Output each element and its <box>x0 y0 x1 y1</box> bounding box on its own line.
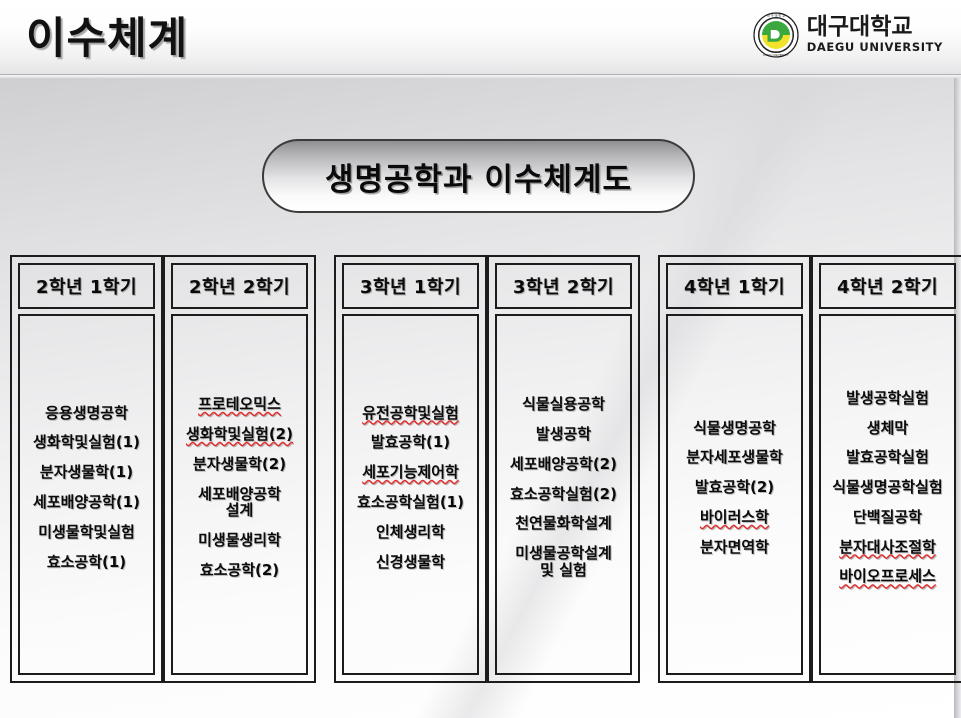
course-item[interactable]: 식물생명공학실험 <box>832 479 942 496</box>
course-item[interactable]: 효소공학실험(2) <box>510 486 617 503</box>
page-title: 이수체계 <box>26 4 188 66</box>
semester-panel[interactable]: 2학년 2학기프로테오믹스생화학및실험(2)분자생물학(2)세포배양공학 설계미… <box>163 255 316 683</box>
course-item[interactable]: 효소공학(2) <box>200 562 279 579</box>
course-item[interactable]: 분자생물학(1) <box>40 464 133 481</box>
course-item[interactable]: 세포배양공학 설계 <box>198 486 281 520</box>
course-item[interactable]: 천연물화학설계 <box>515 515 612 532</box>
semester-course-box: 발생공학실험생체막발효공학실험식물생명공학실험단백질공학분자대사조절학바이오프로… <box>819 314 956 675</box>
curriculum-heading-pill: 생명공학과 이수체계도 <box>262 139 695 213</box>
semester-label: 3학년 1학기 <box>360 273 461 299</box>
course-item[interactable]: 식물생명공학 <box>693 420 776 437</box>
semester-panel-row: 2학년 1학기응용생명공학생화학및실험(1)분자생물학(1)세포배양공학(1)미… <box>10 255 951 683</box>
semester-label: 4학년 2학기 <box>837 273 938 299</box>
semester-panel-header: 3학년 2학기 <box>495 263 632 309</box>
course-list: 프로테오믹스생화학및실험(2)분자생물학(2)세포배양공학 설계미생물생리학효소… <box>175 390 304 586</box>
slide-titlebar: 이수체계 대 구 대 학 교 DAEGU UNIVERSITY <box>0 0 961 76</box>
semester-panel[interactable]: 4학년 1학기식물생명공학분자세포생물학발효공학(2)바이러스학분자면역학 <box>658 255 811 683</box>
course-item[interactable]: 미생물학및실험 <box>38 524 135 541</box>
panel-group-3학년: 3학년 1학기유전공학및실험발효공학(1)세포기능제어학효소공학실험(1)인체생… <box>334 255 640 683</box>
course-item[interactable]: 식물실용공학 <box>522 396 605 413</box>
semester-panel[interactable]: 3학년 2학기식물실용공학발생공학세포배양공학(2)효소공학실험(2)천연물화학… <box>487 255 640 683</box>
course-item[interactable]: 분자면역학 <box>700 539 769 556</box>
semester-panel-header: 4학년 1학기 <box>666 263 803 309</box>
course-item[interactable]: 세포배양공학(1) <box>33 494 140 511</box>
panel-group-2학년: 2학년 1학기응용생명공학생화학및실험(1)분자생물학(1)세포배양공학(1)미… <box>10 255 316 683</box>
course-item[interactable]: 발생공학 <box>536 426 591 443</box>
semester-course-box: 유전공학및실험발효공학(1)세포기능제어학효소공학실험(1)인체생리학신경생물학 <box>342 314 479 675</box>
semester-panel[interactable]: 4학년 2학기발생공학실험생체막발효공학실험식물생명공학실험단백질공학분자대사조… <box>811 255 961 683</box>
semester-course-box: 프로테오믹스생화학및실험(2)분자생물학(2)세포배양공학 설계미생물생리학효소… <box>171 314 308 675</box>
course-list: 응용생명공학생화학및실험(1)분자생물학(1)세포배양공학(1)미생물학및실험효… <box>22 398 151 577</box>
course-item[interactable]: 세포배양공학(2) <box>510 456 617 473</box>
university-logo: 대 구 대 학 교 DAEGU UNIVERSITY 대구대학교 DAEGU U… <box>753 12 943 58</box>
course-item[interactable]: 응용생명공학 <box>45 405 128 422</box>
semester-panel[interactable]: 3학년 1학기유전공학및실험발효공학(1)세포기능제어학효소공학실험(1)인체생… <box>334 255 487 683</box>
panel-group-4학년: 4학년 1학기식물생명공학분자세포생물학발효공학(2)바이러스학분자면역학4학년… <box>658 255 961 683</box>
university-name-ko: 대구대학교 <box>807 16 943 39</box>
semester-course-box: 식물실용공학발생공학세포배양공학(2)효소공학실험(2)천연물화학설계미생물공학… <box>495 314 632 675</box>
course-item[interactable]: 발효공학(2) <box>695 479 774 496</box>
semester-panel-header: 2학년 1학기 <box>18 263 155 309</box>
course-item[interactable]: 바이러스학 <box>700 509 769 526</box>
course-item[interactable]: 바이오프로세스 <box>839 568 936 585</box>
semester-panel-header: 4학년 2학기 <box>819 263 956 309</box>
course-item[interactable]: 유전공학및실험 <box>362 405 459 422</box>
course-item[interactable]: 신경생물학 <box>376 554 445 571</box>
curriculum-heading-text: 생명공학과 이수체계도 <box>325 154 632 199</box>
course-item[interactable]: 미생물공학설계 및 실험 <box>515 545 612 579</box>
daegu-university-seal-icon: 대 구 대 학 교 DAEGU UNIVERSITY <box>753 12 799 58</box>
slide-root: 이수체계 대 구 대 학 교 DAEGU UNIVERSITY <box>0 0 961 718</box>
semester-label: 4학년 1학기 <box>684 273 785 299</box>
semester-label: 2학년 1학기 <box>36 273 137 299</box>
course-item[interactable]: 세포기능제어학 <box>362 464 459 481</box>
course-item[interactable]: 단백질공학 <box>853 509 922 526</box>
panel-group-gap <box>316 255 334 683</box>
course-item[interactable]: 생화학및실험(1) <box>33 434 140 451</box>
course-item[interactable]: 분자세포생물학 <box>686 449 783 466</box>
course-item[interactable]: 생체막 <box>867 420 908 437</box>
course-item[interactable]: 프로테오믹스 <box>198 396 281 413</box>
semester-panel[interactable]: 2학년 1학기응용생명공학생화학및실험(1)분자생물학(1)세포배양공학(1)미… <box>10 255 163 683</box>
course-item[interactable]: 효소공학(1) <box>47 554 126 571</box>
panel-group-gap <box>640 255 658 683</box>
semester-course-box: 응용생명공학생화학및실험(1)분자생물학(1)세포배양공학(1)미생물학및실험효… <box>18 314 155 675</box>
course-item[interactable]: 발효공학(1) <box>371 434 450 451</box>
course-item[interactable]: 발생공학실험 <box>846 390 929 407</box>
course-item[interactable]: 분자생물학(2) <box>193 456 286 473</box>
course-list: 식물실용공학발생공학세포배양공학(2)효소공학실험(2)천연물화학설계미생물공학… <box>499 390 628 586</box>
university-name-en: DAEGU UNIVERSITY <box>807 42 943 54</box>
semester-course-box: 식물생명공학분자세포생물학발효공학(2)바이러스학분자면역학 <box>666 314 803 675</box>
university-logo-text: 대구대학교 DAEGU UNIVERSITY <box>807 16 943 54</box>
semester-panel-header: 2학년 2학기 <box>171 263 308 309</box>
course-item[interactable]: 미생물생리학 <box>198 532 281 549</box>
course-item[interactable]: 발효공학실험 <box>846 449 929 466</box>
course-list: 식물생명공학분자세포생물학발효공학(2)바이러스학분자면역학 <box>670 413 799 562</box>
course-item[interactable]: 분자대사조절학 <box>839 539 936 556</box>
semester-label: 3학년 2학기 <box>513 273 614 299</box>
course-item[interactable]: 효소공학실험(1) <box>357 494 464 511</box>
svg-text:DAEGU UNIVERSITY: DAEGU UNIVERSITY <box>763 53 789 57</box>
course-list: 유전공학및실험발효공학(1)세포기능제어학효소공학실험(1)인체생리학신경생물학 <box>346 398 475 577</box>
course-list: 발생공학실험생체막발효공학실험식물생명공학실험단백질공학분자대사조절학바이오프로… <box>823 383 952 592</box>
semester-panel-header: 3학년 1학기 <box>342 263 479 309</box>
semester-label: 2학년 2학기 <box>189 273 290 299</box>
course-item[interactable]: 생화학및실험(2) <box>186 426 293 443</box>
svg-text:대 구 대 학 교: 대 구 대 학 교 <box>767 13 785 18</box>
course-item[interactable]: 인체생리학 <box>376 524 445 541</box>
